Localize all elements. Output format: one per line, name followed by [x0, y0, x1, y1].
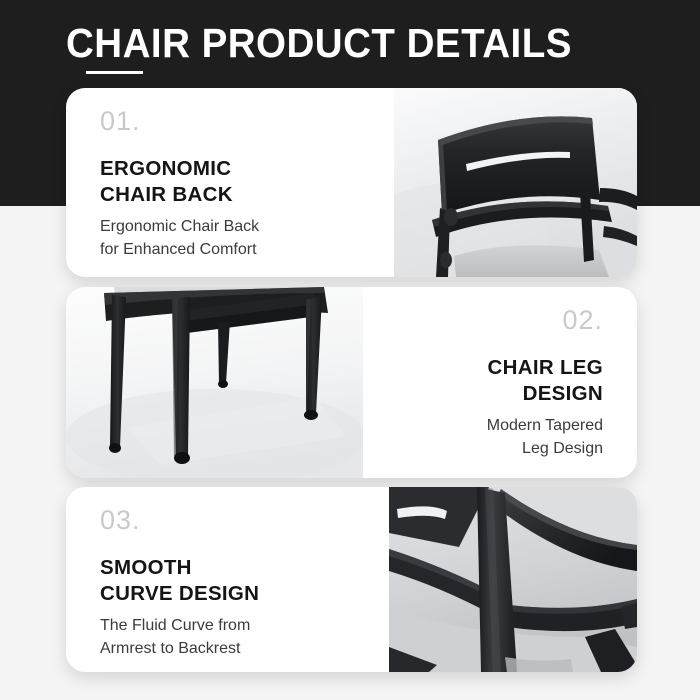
chair-backrest-illustration	[394, 88, 637, 277]
feature-card-1-heading: ERGONOMIC CHAIR BACK	[100, 156, 370, 208]
feature-card-1-text: 01. ERGONOMIC CHAIR BACK Ergonomic Chair…	[66, 88, 394, 277]
chair-armrest-curve-photo	[389, 487, 637, 672]
chair-legs-photo	[66, 287, 363, 478]
feature-card-1[interactable]: 01. ERGONOMIC CHAIR BACK Ergonomic Chair…	[66, 88, 637, 277]
chair-legs-illustration	[66, 287, 363, 478]
feature-card-2-text: 02. CHAIR LEG DESIGN Modern Tapered Leg …	[363, 287, 637, 478]
title-underline-accent	[86, 71, 143, 74]
feature-card-2-number: 02.	[562, 307, 603, 334]
feature-card-1-body: Ergonomic Chair Back for Enhanced Comfor…	[100, 216, 370, 260]
chair-backrest-photo	[394, 88, 637, 277]
feature-card-2[interactable]: 02. CHAIR LEG DESIGN Modern Tapered Leg …	[66, 287, 637, 478]
feature-card-1-number: 01.	[100, 108, 370, 135]
feature-card-2-body: Modern Tapered Leg Design	[487, 415, 603, 459]
feature-card-3-heading: SMOOTH CURVE DESIGN	[100, 555, 365, 607]
feature-card-3-body: The Fluid Curve from Armrest to Backrest	[100, 615, 365, 659]
feature-card-3-number: 03.	[100, 507, 365, 534]
feature-card-3[interactable]: 03. SMOOTH CURVE DESIGN The Fluid Curve …	[66, 487, 637, 672]
feature-card-3-text: 03. SMOOTH CURVE DESIGN The Fluid Curve …	[66, 487, 389, 672]
feature-card-2-heading: CHAIR LEG DESIGN	[488, 355, 603, 407]
page-title: CHAIR PRODUCT DETAILS	[66, 20, 572, 67]
chair-armrest-curve-illustration	[389, 487, 637, 672]
